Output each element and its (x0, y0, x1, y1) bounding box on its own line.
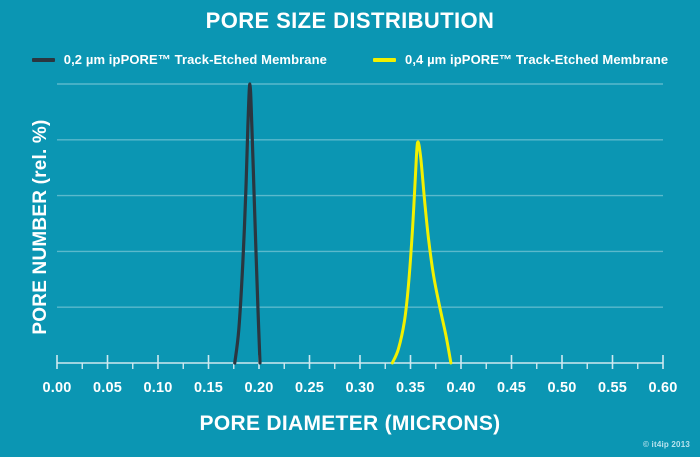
x-tick-label: 0.60 (633, 380, 693, 396)
x-axis-title: PORE DIAMETER (MICRONS) (0, 412, 700, 436)
gridlines (57, 84, 663, 307)
data-series (235, 84, 451, 363)
x-axis-ticks (57, 355, 663, 369)
chart-page: PORE SIZE DISTRIBUTION 0,2 µm ipPORE™ Tr… (0, 0, 700, 457)
plot-area: PORE NUMBER (rel. %) PORE DIAMETER (MICR… (0, 0, 700, 457)
y-axis-title: PORE NUMBER (rel. %) (30, 82, 52, 372)
series-line-1 (235, 84, 260, 363)
copyright-notice: © it4ip 2013 (643, 440, 690, 449)
series-line-2 (392, 142, 451, 363)
